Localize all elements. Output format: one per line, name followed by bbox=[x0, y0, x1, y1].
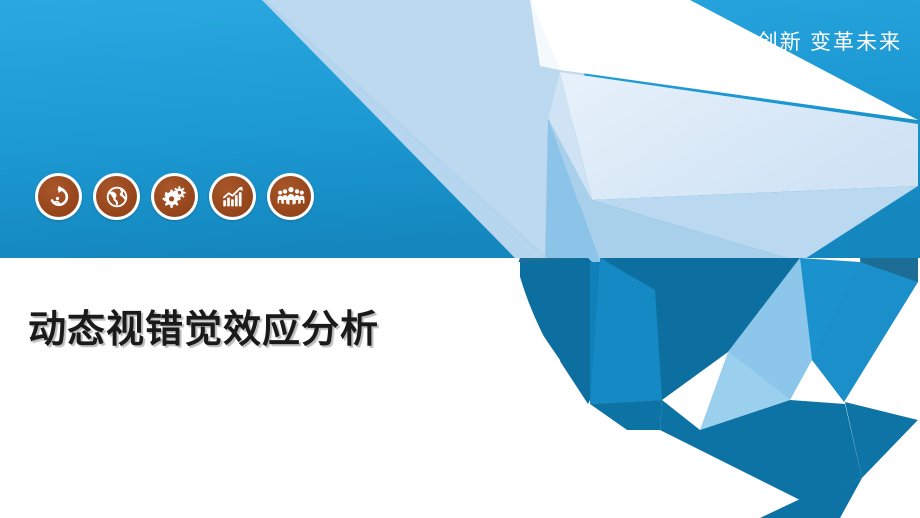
icon-badge-globe[interactable] bbox=[93, 173, 140, 220]
icon-badge-people[interactable] bbox=[267, 173, 314, 220]
background-artwork bbox=[0, 0, 920, 518]
gears-icon bbox=[154, 176, 195, 217]
people-group-icon bbox=[270, 176, 311, 217]
icon-row bbox=[35, 173, 314, 220]
lower-white-area bbox=[0, 258, 490, 518]
header-tagline: 数智创新 变革未来 bbox=[711, 26, 902, 56]
icon-badge-bar-chart[interactable] bbox=[209, 173, 256, 220]
globe-icon bbox=[96, 176, 137, 217]
page-title: 动态视错觉效应分析 bbox=[28, 298, 379, 353]
recycle-arrow-icon bbox=[38, 176, 79, 217]
icon-badge-gears[interactable] bbox=[151, 173, 198, 220]
slide-canvas: 数智创新 变革未来 bbox=[0, 0, 920, 518]
icon-badge-recycle[interactable] bbox=[35, 173, 82, 220]
bar-chart-growth-icon bbox=[212, 176, 253, 217]
